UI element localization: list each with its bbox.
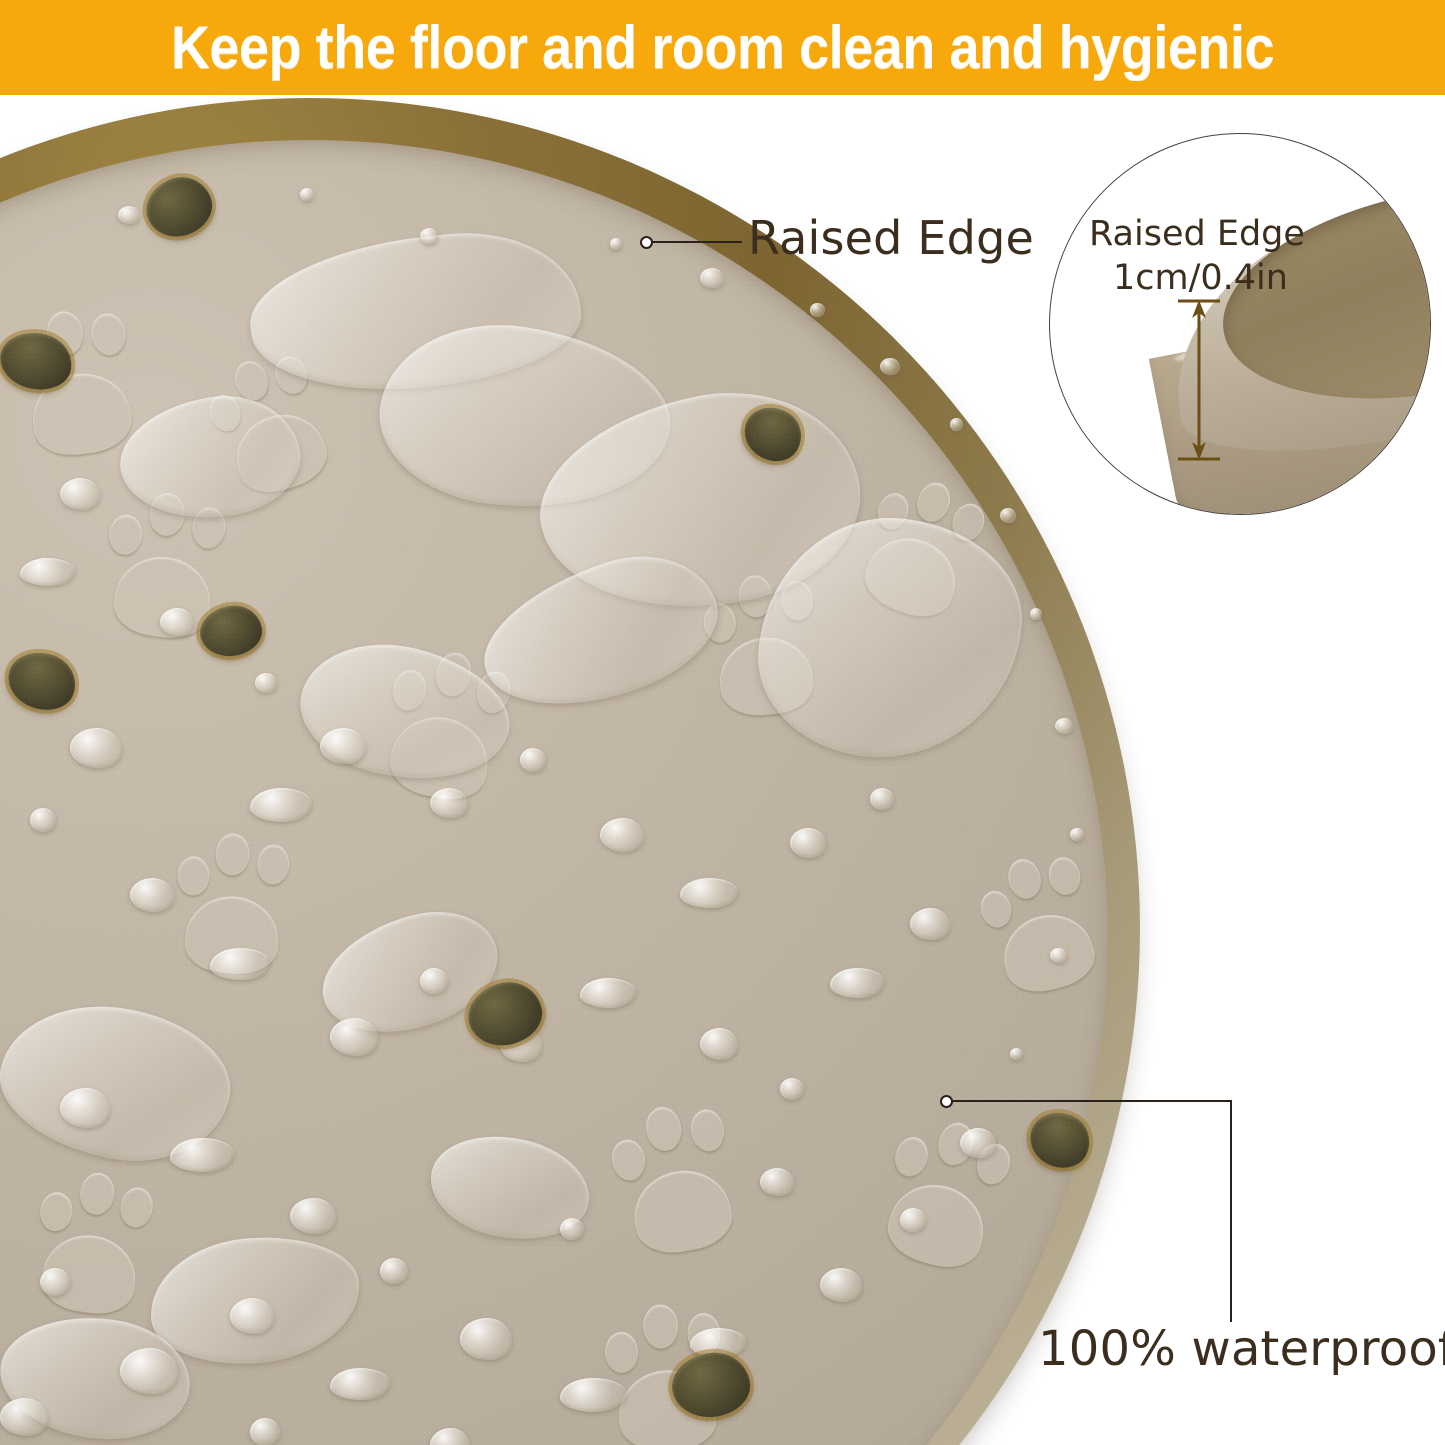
inset-detail-circle: Raised Edge 1cm/0.4in [1049,133,1431,515]
inset-caption: Raised Edge 1cm/0.4in [1089,212,1305,300]
leader-line [1230,1100,1232,1322]
callout-label-waterproof: 100% waterproof [1038,1321,1445,1377]
banner-title: Keep the floor and room clean and hygien… [72,6,1373,90]
leader-line [652,241,742,243]
callout-label-raised-edge: Raised Edge [748,211,1034,265]
inset-caption-measurement: 1cm/0.4in [1089,256,1305,300]
inset-caption-title: Raised Edge [1089,214,1305,254]
product-marketing-image: Keep the floor and room clean and hygien… [0,0,1445,1445]
leader-line [952,1100,1232,1102]
inset-rim-closeup-photo [1050,134,1430,514]
mat-surface [0,140,1108,1445]
dimension-arrow-icon [1164,296,1234,464]
header-banner: Keep the floor and room clean and hygien… [0,0,1445,95]
